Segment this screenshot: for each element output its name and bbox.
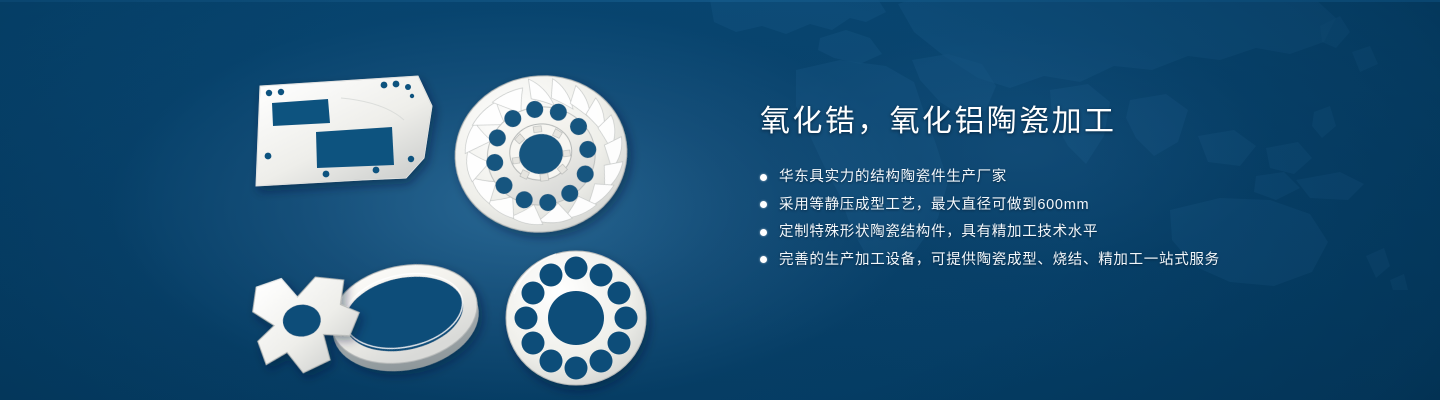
ceramic-products-image (236, 46, 696, 386)
ceramic-impeller-wheel (445, 65, 637, 243)
feature-list: 华东具实力的结构陶瓷件生产厂家 采用等静压成型工艺，最大直径可做到600mm 定… (760, 170, 1360, 267)
feature-text: 定制特殊形状陶瓷结构件，具有精加工技术水平 (779, 225, 1098, 240)
list-item: 采用等静压成型工艺，最大直径可做到600mm (760, 198, 1360, 213)
bullet-dot-icon (760, 174, 767, 181)
bullet-dot-icon (760, 201, 767, 208)
promo-banner: 氧化锆，氧化铝陶瓷加工 华东具实力的结构陶瓷件生产厂家 采用等静压成型工艺，最大… (0, 0, 1440, 400)
ceramic-mounting-plate (256, 76, 432, 186)
feature-text: 采用等静压成型工艺，最大直径可做到600mm (779, 198, 1089, 213)
banner-copy: 氧化锆，氧化铝陶瓷加工 华东具实力的结构陶瓷件生产厂家 采用等静压成型工艺，最大… (760, 104, 1360, 267)
list-item: 定制特殊形状陶瓷结构件，具有精加工技术水平 (760, 225, 1360, 240)
banner-headline: 氧化锆，氧化铝陶瓷加工 (760, 104, 1360, 140)
bullet-dot-icon (760, 229, 767, 236)
list-item: 华东具实力的结构陶瓷件生产厂家 (760, 170, 1360, 185)
feature-text: 完善的生产加工设备，可提供陶瓷成型、烧结、精加工一站式服务 (779, 253, 1220, 268)
ceramic-perforated-disc (506, 251, 646, 385)
bullet-dot-icon (760, 256, 767, 263)
feature-text: 华东具实力的结构陶瓷件生产厂家 (779, 170, 1007, 185)
ceramic-cross-plate (249, 271, 364, 378)
list-item: 完善的生产加工设备，可提供陶瓷成型、烧结、精加工一站式服务 (760, 253, 1360, 268)
banner-top-highlight (0, 0, 1440, 2)
